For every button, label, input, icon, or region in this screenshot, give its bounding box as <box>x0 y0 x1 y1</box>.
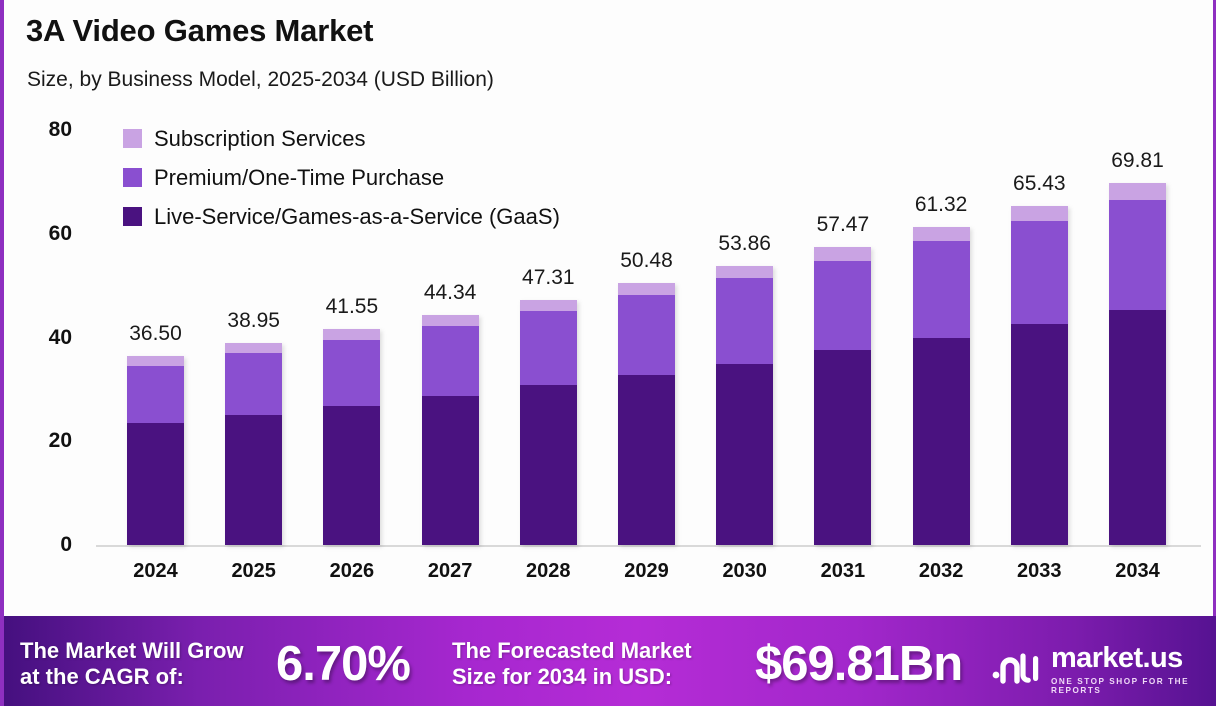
bar-segment[interactable] <box>225 353 282 415</box>
x-axis-tick-label: 2026 <box>297 560 407 583</box>
stacked-bar[interactable] <box>1011 206 1068 545</box>
cagr-value: 6.70% <box>276 636 410 692</box>
stacked-bar[interactable] <box>618 283 675 545</box>
bar-segment[interactable] <box>618 283 675 295</box>
bar-segment[interactable] <box>225 343 282 353</box>
bar-segment[interactable] <box>422 315 479 326</box>
bar-segment[interactable] <box>323 406 380 545</box>
bar-segment[interactable] <box>716 266 773 279</box>
bar-segment[interactable] <box>1011 324 1068 545</box>
bar-segment[interactable] <box>913 338 970 545</box>
bar-total-label: 61.32 <box>881 193 1001 217</box>
bar-segment[interactable] <box>814 247 871 261</box>
bar-total-label: 65.43 <box>979 172 1099 196</box>
bar-segment[interactable] <box>618 295 675 375</box>
chart-infographic: 3A Video Games Market Size, by Business … <box>0 0 1216 706</box>
x-axis-tick-label: 2034 <box>1083 560 1193 583</box>
x-axis-tick-label: 2030 <box>690 560 800 583</box>
stacked-bar[interactable] <box>913 227 970 545</box>
x-axis-tick-label: 2024 <box>101 560 211 583</box>
plot-area: 020406080 36.5038.9541.5544.3447.3150.48… <box>4 0 1216 600</box>
y-axis-tick-label: 60 <box>12 222 72 246</box>
stacked-bar[interactable] <box>520 300 577 545</box>
bar-segment[interactable] <box>127 356 184 366</box>
cagr-label: The Market Will Grow at the CAGR of: <box>20 638 244 690</box>
x-axis-tick-label: 2031 <box>788 560 898 583</box>
bar-total-label: 69.81 <box>1078 149 1198 173</box>
bar-segment[interactable] <box>422 396 479 545</box>
forecast-label: The Forecasted Market Size for 2034 in U… <box>452 638 692 690</box>
x-axis-tick-label: 2029 <box>592 560 702 583</box>
bar-segment[interactable] <box>127 423 184 545</box>
bar-segment[interactable] <box>323 340 380 406</box>
bar-segment[interactable] <box>1011 206 1068 222</box>
bar-segment[interactable] <box>225 415 282 545</box>
bar-segment[interactable] <box>716 278 773 364</box>
bar-segment[interactable] <box>913 241 970 338</box>
x-axis-line <box>96 545 1201 547</box>
forecast-value: $69.81Bn <box>755 636 962 692</box>
stacked-bar[interactable] <box>1109 183 1166 545</box>
bar-segment[interactable] <box>422 326 479 396</box>
y-axis-tick-label: 0 <box>12 533 72 557</box>
y-axis-tick-label: 80 <box>12 118 72 142</box>
stacked-bar[interactable] <box>814 247 871 545</box>
bar-segment[interactable] <box>520 311 577 386</box>
bar-segment[interactable] <box>1109 310 1166 545</box>
cagr-label-line1: The Market Will Grow <box>20 638 244 664</box>
bar-segment[interactable] <box>520 300 577 311</box>
stacked-bar[interactable] <box>225 343 282 545</box>
forecast-label-line1: The Forecasted Market <box>452 638 692 664</box>
bar-segment[interactable] <box>127 366 184 423</box>
x-axis-tick-label: 2027 <box>395 560 505 583</box>
stacked-bar[interactable] <box>716 266 773 545</box>
stacked-bar[interactable] <box>422 315 479 545</box>
market-us-logo[interactable]: market.us ONE STOP SHOP FOR THE REPORTS <box>992 644 1216 695</box>
market-us-mark-icon <box>992 650 1042 689</box>
x-axis-tick-label: 2032 <box>886 560 996 583</box>
cagr-label-line2: at the CAGR of: <box>20 664 244 690</box>
bar-segment[interactable] <box>1109 200 1166 310</box>
logo-name: market.us <box>1051 644 1216 673</box>
bar-segment[interactable] <box>814 350 871 545</box>
stacked-bar[interactable] <box>127 356 184 545</box>
bar-segment[interactable] <box>520 385 577 545</box>
bar-segment[interactable] <box>618 375 675 545</box>
footer-banner: The Market Will Grow at the CAGR of: 6.7… <box>4 616 1216 706</box>
logo-text: market.us ONE STOP SHOP FOR THE REPORTS <box>1051 644 1216 695</box>
bar-segment[interactable] <box>1109 183 1166 200</box>
x-axis-tick-label: 2033 <box>984 560 1094 583</box>
forecast-label-line2: Size for 2034 in USD: <box>452 664 692 690</box>
stacked-bar[interactable] <box>323 329 380 545</box>
bar-segment[interactable] <box>716 364 773 545</box>
x-axis-tick-label: 2025 <box>199 560 309 583</box>
logo-tagline: ONE STOP SHOP FOR THE REPORTS <box>1051 677 1216 695</box>
bar-segment[interactable] <box>1011 221 1068 324</box>
bar-segment[interactable] <box>913 227 970 241</box>
bar-segment[interactable] <box>814 261 871 350</box>
bar-segment[interactable] <box>323 329 380 339</box>
y-axis-tick-label: 20 <box>12 429 72 453</box>
x-axis-tick-label: 2028 <box>493 560 603 583</box>
y-axis-tick-label: 40 <box>12 326 72 350</box>
